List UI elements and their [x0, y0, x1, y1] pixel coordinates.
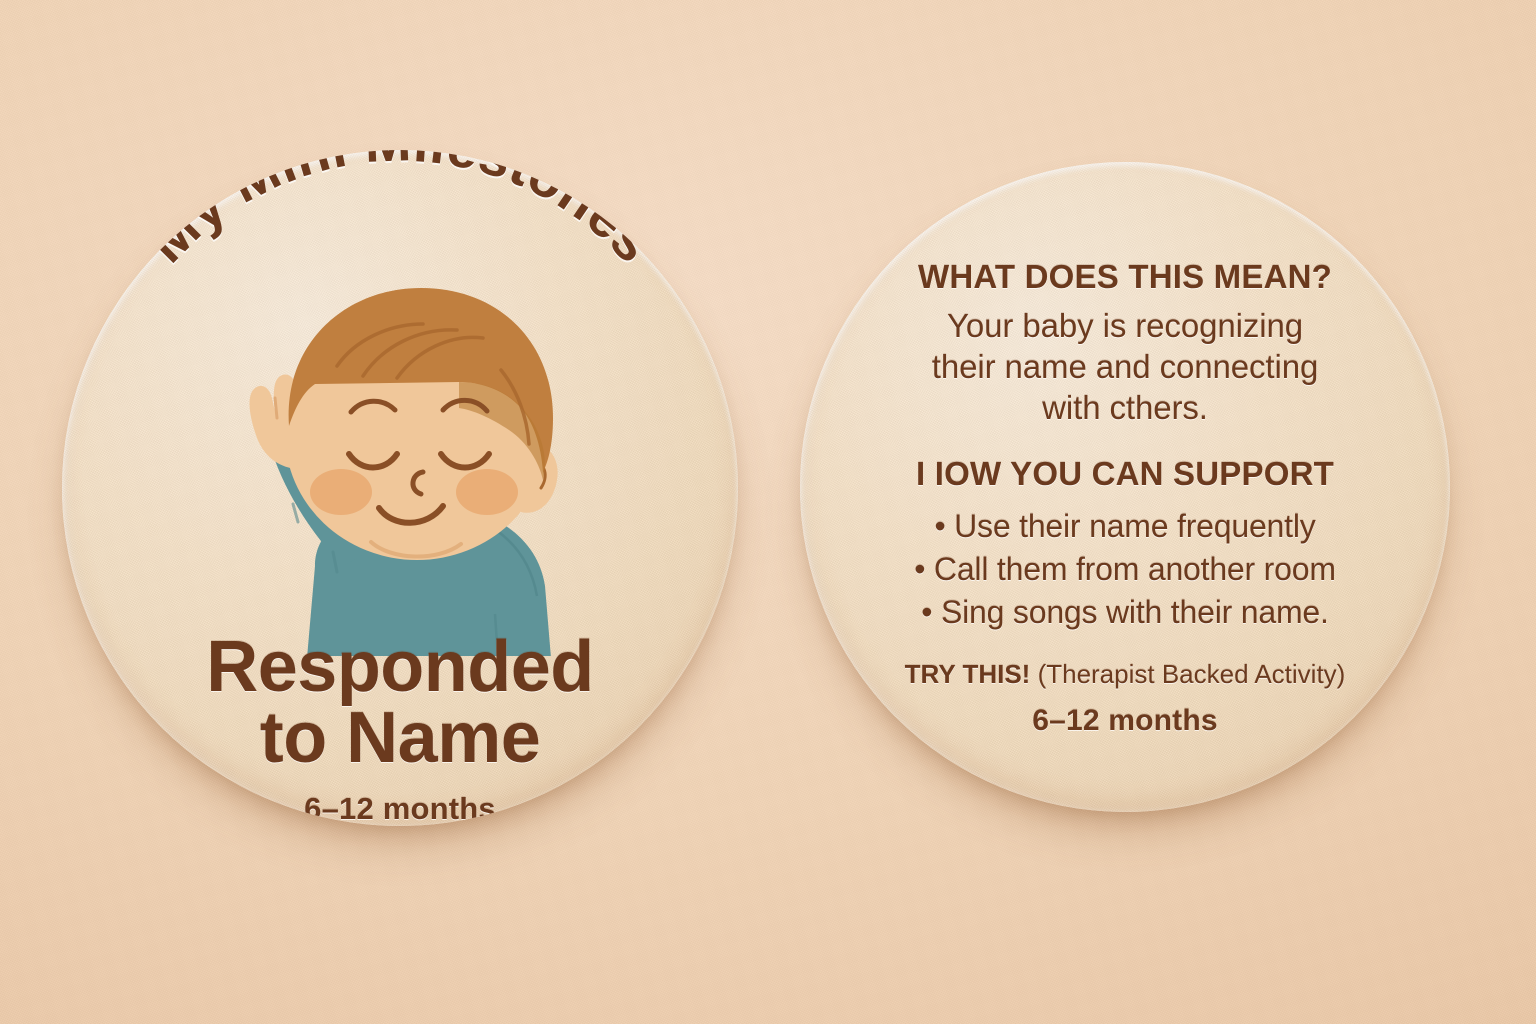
support-tip-item: • Call them from another room	[845, 548, 1405, 591]
try-this-label: TRY THIS!	[905, 659, 1031, 689]
try-this-note: (Therapist Backed Activity)	[1038, 659, 1346, 689]
brand-arc-title: My Mini Milestones My Mini Milestones	[70, 176, 730, 416]
brand-arc-title-text: My Mini Milestones	[135, 150, 666, 274]
milestone-title-line-2: to Name	[62, 703, 738, 774]
scene-backdrop: My Mini Milestones My Mini Milestones	[0, 0, 1536, 1024]
meaning-line: Your baby is recognizing	[845, 306, 1405, 347]
meaning-body: Your baby is recognizing their name and …	[845, 306, 1405, 429]
front-age-range: 6–12 months	[62, 791, 738, 826]
milestone-title-line-1: Responded	[62, 632, 738, 703]
support-tip-item: • Use their name frequently	[845, 505, 1405, 548]
support-tip-item: • Sing songs with their name.	[845, 591, 1405, 634]
milestone-title: Responded to Name	[62, 632, 738, 775]
milestone-card-front[interactable]: My Mini Milestones My Mini Milestones	[62, 150, 738, 826]
back-age-range: 6–12 months	[845, 704, 1405, 738]
milestone-card-back[interactable]: WHAT DOES THIS MEAN? Your baby is recogn…	[800, 162, 1450, 812]
meaning-line: their name and connecting	[845, 347, 1405, 388]
support-tip-list: • Use their name frequently • Call them …	[845, 505, 1405, 635]
meaning-line: with cthers.	[845, 388, 1405, 429]
back-content-block: WHAT DOES THIS MEAN? Your baby is recogn…	[845, 258, 1405, 738]
try-this-line: TRY THIS! (Therapist Backed Activity)	[845, 658, 1405, 692]
meaning-heading: WHAT DOES THIS MEAN?	[845, 258, 1405, 296]
support-heading: I IOW YOU CAN SUPPORT	[845, 455, 1405, 493]
front-caption-block: Responded to Name 6–12 months	[62, 632, 738, 826]
